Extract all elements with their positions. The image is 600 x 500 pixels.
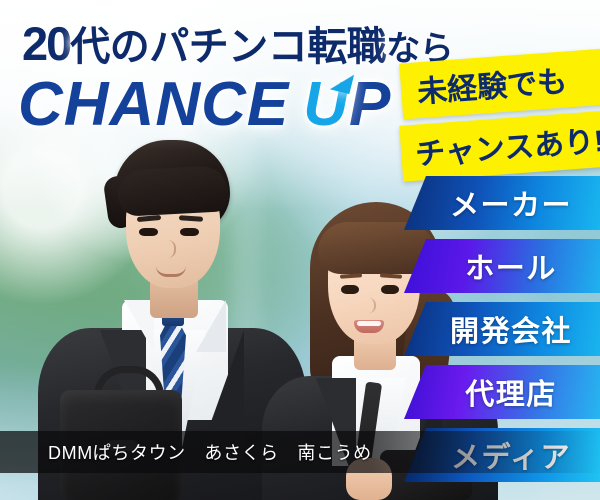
man-hair-fringe: [117, 165, 229, 217]
category-button-agency[interactable]: 代理店: [404, 365, 600, 419]
caption-bar: DMMぱちタウン あさくら 南こうめ: [0, 431, 600, 473]
category-label-maker: メーカー: [432, 182, 572, 224]
experience-badge: 未経験でも チャンスあり!: [401, 56, 600, 174]
man-eye-right: [180, 228, 199, 236]
badge-line-1: 未経験でも: [399, 49, 600, 120]
man-collar-right: [196, 300, 226, 352]
badge-line-2: チャンスあり!: [399, 110, 600, 181]
category-button-hall[interactable]: ホール: [404, 239, 600, 293]
woman-smile: [354, 320, 384, 333]
category-button-maker[interactable]: メーカー: [404, 176, 600, 230]
headline: 20代のパチンコ転職なら: [22, 14, 453, 72]
woman-eye-left: [341, 285, 359, 294]
headline-middle: 代のパチンコ転職: [70, 25, 386, 69]
caption-text: DMMぱちタウン あさくら 南こうめ: [0, 439, 372, 465]
woman-eye-right: [381, 285, 399, 294]
category-button-developer[interactable]: 開発会社: [404, 302, 600, 356]
recruitment-banner[interactable]: 20代のパチンコ転職なら CHANCEUP 未経験でも チャンスあり! メーカー…: [0, 0, 600, 500]
category-label-hall: ホール: [447, 245, 557, 287]
category-label-agency: 代理店: [447, 371, 557, 413]
logo-letter-p: P: [349, 70, 391, 139]
headline-number: 20: [22, 17, 70, 70]
logo-letter-u: U: [303, 70, 349, 139]
man-eye-left: [139, 228, 158, 236]
category-label-developer: 開発会社: [432, 308, 572, 350]
chance-up-logo: CHANCEUP: [18, 74, 391, 136]
logo-word-chance: CHANCE: [18, 70, 289, 139]
